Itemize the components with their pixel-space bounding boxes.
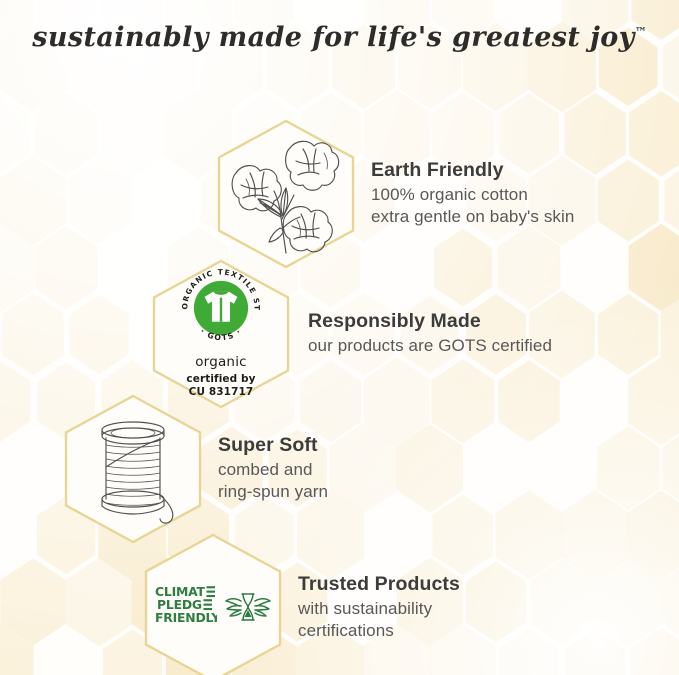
infographic-canvas: sustainably made for life's greatest joy… <box>0 0 679 675</box>
climate-pledge-friendly-icon: CLIMAT PLEDG FRIENDLY <box>142 532 284 675</box>
feature-copy-responsibly-made: Responsibly Made our products are GOTS c… <box>292 310 552 357</box>
feature-copy-earth-friendly: Earth Friendly 100% organic cotton extra… <box>357 159 574 229</box>
feature-row-responsibly-made: GLOBAL ORGANIC TEXTILE STANDARD · GOTS ·… <box>150 258 552 410</box>
gots-organic-label: organic <box>195 354 247 370</box>
feature-line: our products are GOTS certified <box>308 335 552 358</box>
feature-line: ring-spun yarn <box>218 481 328 504</box>
page-headline: sustainably made for life's greatest joy… <box>0 22 679 53</box>
climate-pledge-wordmark: CLIMAT PLEDG FRIENDLY <box>155 582 217 632</box>
feature-row-earth-friendly: Earth Friendly 100% organic cotton extra… <box>215 118 574 270</box>
thread-spool-sketch-icon <box>62 393 204 545</box>
feature-heading: Super Soft <box>218 434 328 458</box>
feature-heading: Responsibly Made <box>308 310 552 334</box>
hexagon-card-earth-friendly <box>215 118 357 270</box>
gots-seal-icon: GLOBAL ORGANIC TEXTILE STANDARD · GOTS · <box>178 265 264 351</box>
feature-heading: Trusted Products <box>298 573 460 597</box>
headline-text: sustainably made for life's greatest joy <box>32 22 635 53</box>
winged-hourglass-icon <box>224 587 272 627</box>
gots-organic-certification-icon: GLOBAL ORGANIC TEXTILE STANDARD · GOTS ·… <box>150 258 292 410</box>
hexagon-card-responsibly-made: GLOBAL ORGANIC TEXTILE STANDARD · GOTS ·… <box>150 258 292 410</box>
trademark-symbol: ™ <box>635 25 647 39</box>
cpf-line-3: FRIENDLY <box>155 610 217 625</box>
feature-line: with sustainability <box>298 598 460 621</box>
feature-line: extra gentle on baby's skin <box>371 206 574 229</box>
feature-copy-super-soft: Super Soft combed and ring-spun yarn <box>204 434 328 504</box>
cotton-plant-sketch-icon <box>215 118 357 270</box>
gots-certified-by-line: certified by <box>186 373 255 386</box>
feature-row-trusted-products: CLIMAT PLEDG FRIENDLY <box>142 532 460 675</box>
feature-line: combed and <box>218 459 328 482</box>
feature-line: certifications <box>298 620 460 643</box>
hexagon-card-trusted-products: CLIMAT PLEDG FRIENDLY <box>142 532 284 675</box>
feature-copy-trusted-products: Trusted Products with sustainability cer… <box>284 573 460 643</box>
feature-heading: Earth Friendly <box>371 159 574 183</box>
feature-line: 100% organic cotton <box>371 184 574 207</box>
feature-row-super-soft: Super Soft combed and ring-spun yarn <box>62 393 328 545</box>
hexagon-card-super-soft <box>62 393 204 545</box>
